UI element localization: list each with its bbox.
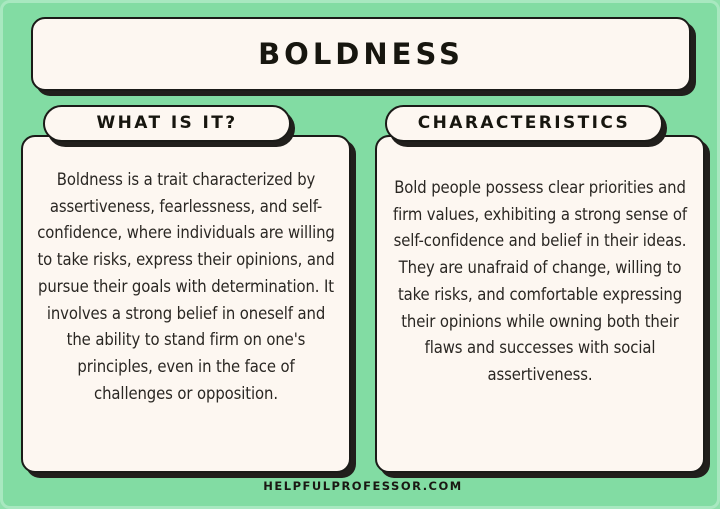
panel-what-is-it: Boldness is a trait characterized by ass… xyxy=(21,135,351,473)
panel-characteristics: Bold people possess clear priorities and… xyxy=(375,135,705,473)
infographic-canvas: BOLDNESS Boldness is a trait characteriz… xyxy=(0,0,720,509)
panel-what-is-it-body: Boldness is a trait characterized by ass… xyxy=(37,167,335,407)
footer: HELPFULPROFESSOR.COM xyxy=(3,475,720,494)
title-card: BOLDNESS xyxy=(31,17,691,91)
panel-what-is-it-header: WHAT IS IT? xyxy=(43,105,291,142)
page-title: BOLDNESS xyxy=(258,40,464,69)
panel-characteristics-heading: CHARACTERISTICS xyxy=(418,115,630,132)
footer-attribution: HELPFULPROFESSOR.COM xyxy=(263,479,462,493)
panel-what-is-it-heading: WHAT IS IT? xyxy=(96,115,237,132)
panel-characteristics-body: Bold people possess clear priorities and… xyxy=(391,175,689,389)
panel-row: Boldness is a trait characterized by ass… xyxy=(3,121,720,477)
panel-characteristics-header: CHARACTERISTICS xyxy=(385,105,663,142)
